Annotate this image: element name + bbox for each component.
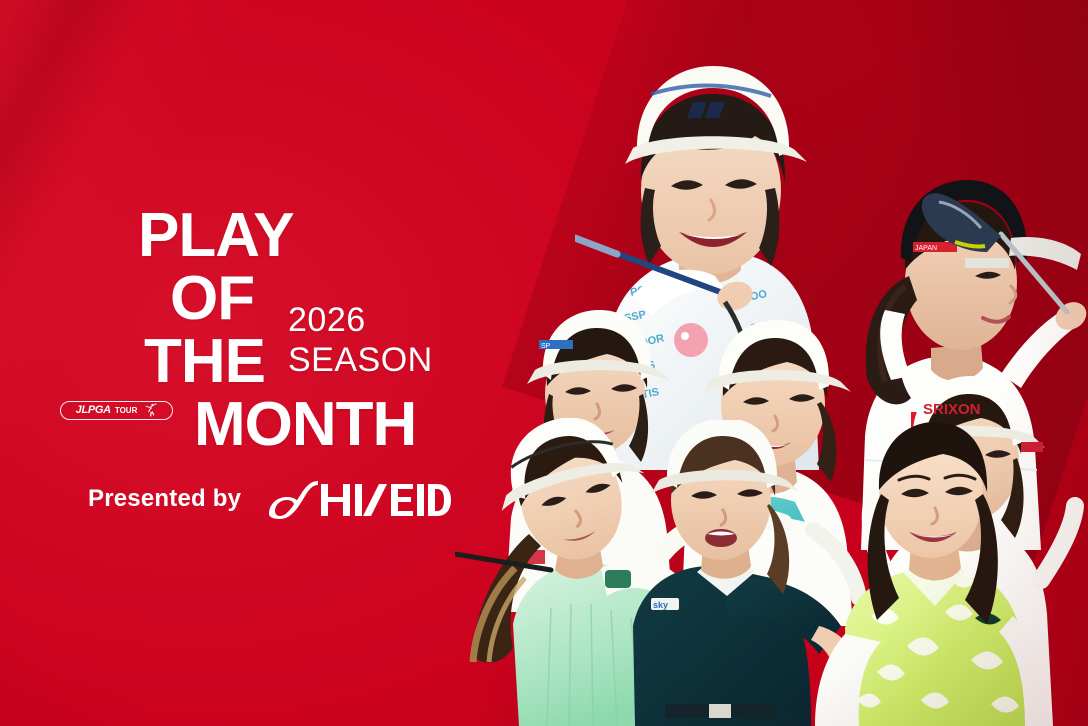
play-of-the-month-banner: POO SSP POOR SSPS RTIS COO SPO PSS RTI: [0, 0, 1088, 726]
sponsor-row: Presented by: [88, 478, 455, 520]
jlpga-tour-badge[interactable]: JLPGA TOUR: [60, 401, 173, 420]
season-label: 2026 SEASON: [288, 300, 433, 380]
headline-line-play: PLAY: [138, 206, 478, 266]
season-year: 2026: [288, 300, 433, 340]
jlpga-badge-name: JLPGA: [76, 405, 111, 416]
presented-by-label: Presented by: [88, 485, 241, 513]
season-word: SEASON: [288, 340, 433, 380]
shiseido-wordmark-icon: [265, 478, 455, 520]
jlpga-badge-tour: TOUR: [115, 407, 138, 415]
headline-line-month: MONTH: [194, 395, 478, 455]
golfer-swing-icon: [141, 403, 157, 418]
